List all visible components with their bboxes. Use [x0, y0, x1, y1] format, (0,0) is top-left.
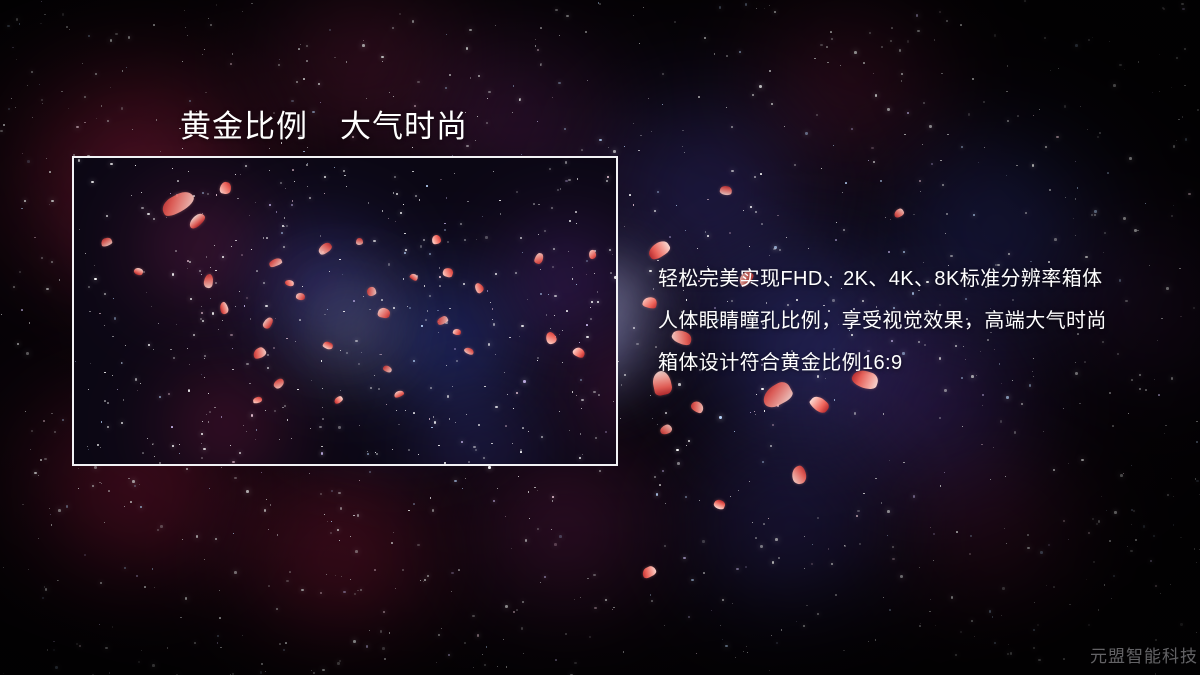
flower-petal	[893, 208, 905, 219]
flower-petal	[689, 399, 705, 415]
flower-petal	[441, 267, 453, 279]
flower-petal	[659, 423, 673, 436]
flower-petal	[187, 212, 207, 231]
company-watermark: 元盟智能科技	[1090, 642, 1198, 667]
feature-line-3: 箱体设计符合黄金比例16:9	[658, 342, 1128, 384]
flower-petal	[268, 257, 283, 268]
flower-petal	[100, 236, 113, 247]
flower-petal	[251, 346, 267, 360]
flower-petal	[261, 316, 274, 330]
flower-petal	[790, 464, 808, 485]
flower-petal	[133, 267, 144, 277]
flower-petal	[431, 234, 441, 244]
flower-petal	[219, 181, 232, 195]
presentation-slide: 黄金比例 大气时尚 轻松完美实现FHD、2K、4K、8K标准分辨率箱体 人体眼睛…	[0, 0, 1200, 675]
flower-petal	[453, 328, 462, 336]
feature-line-1: 轻松完美实现FHD、2K、4K、8K标准分辨率箱体	[658, 258, 1128, 300]
page-title: 黄金比例 大气时尚	[180, 101, 468, 146]
flower-petal	[356, 238, 363, 245]
flower-petal	[252, 396, 262, 404]
flower-petal	[285, 279, 295, 287]
flower-petal	[641, 564, 658, 579]
flower-petal	[473, 282, 485, 295]
flower-petal	[713, 498, 727, 510]
flower-petal	[544, 331, 558, 346]
flower-petal	[333, 395, 344, 405]
flower-petal	[382, 364, 393, 374]
flower-petal	[533, 252, 544, 265]
flower-petal	[409, 273, 419, 282]
flower-petal	[436, 315, 449, 326]
flower-petal	[272, 377, 285, 391]
panel-petals	[74, 158, 616, 464]
flower-petal	[588, 249, 596, 259]
flower-petal	[463, 346, 475, 356]
flower-petal	[366, 286, 377, 297]
feature-line-2: 人体眼睛瞳孔比例，享受视觉效果，高端大气时尚	[658, 300, 1128, 342]
flower-petal	[296, 292, 306, 300]
feature-description: 轻松完美实现FHD、2K、4K、8K标准分辨率箱体 人体眼睛瞳孔比例，享受视觉效…	[658, 258, 1128, 384]
flower-petal	[719, 184, 733, 196]
panel-image	[74, 158, 616, 464]
image-preview-panel[interactable]	[72, 156, 618, 466]
flower-petal	[808, 394, 831, 416]
flower-petal	[219, 301, 230, 315]
flower-petal	[322, 340, 334, 350]
flower-petal	[159, 188, 197, 219]
flower-petal	[642, 295, 658, 309]
flower-petal	[317, 241, 334, 256]
flower-petal	[203, 274, 214, 289]
flower-petal	[376, 306, 390, 319]
flower-petal	[571, 345, 586, 359]
flower-petal	[393, 389, 404, 398]
